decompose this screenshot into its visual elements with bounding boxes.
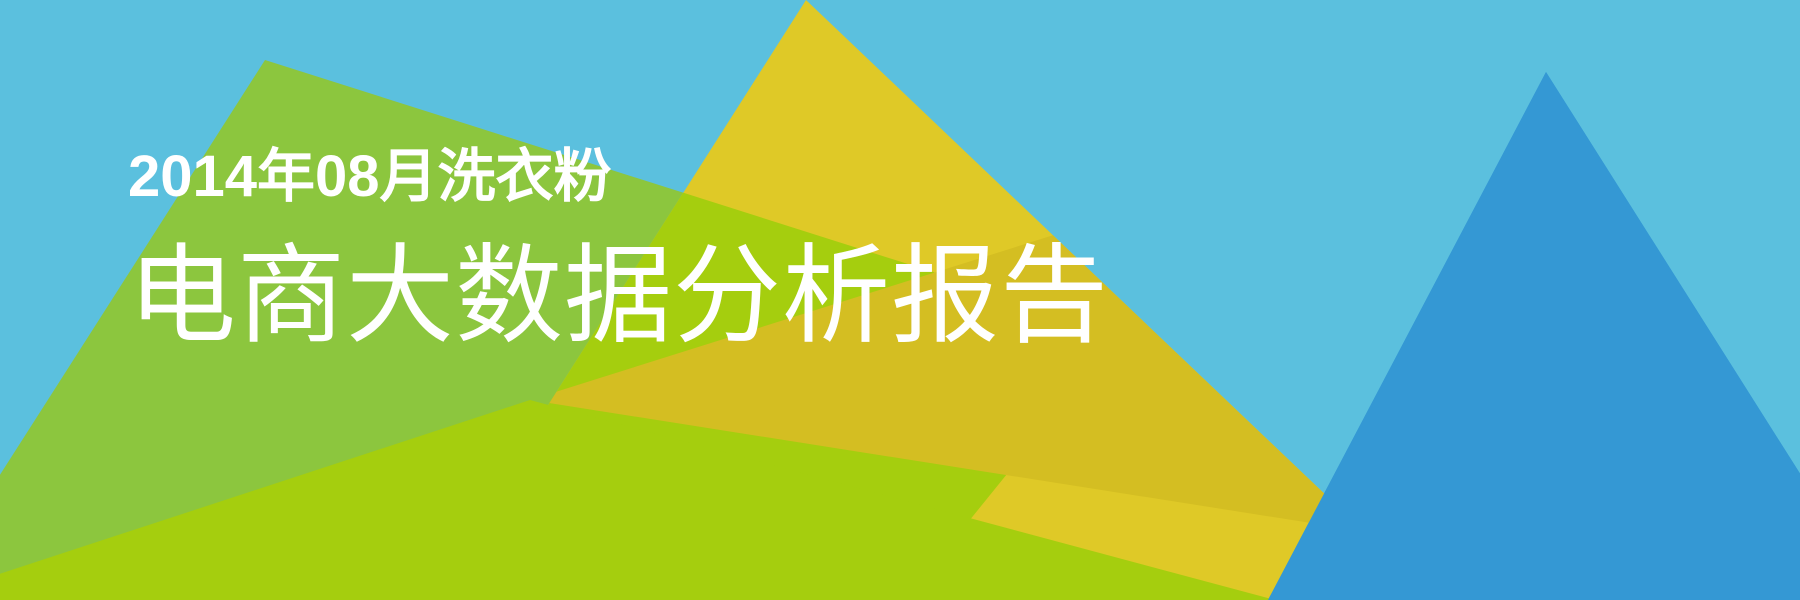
background-geometric-artwork [0,0,1800,600]
report-cover: 2014年08月洗衣粉 电商大数据分析报告 [0,0,1800,600]
